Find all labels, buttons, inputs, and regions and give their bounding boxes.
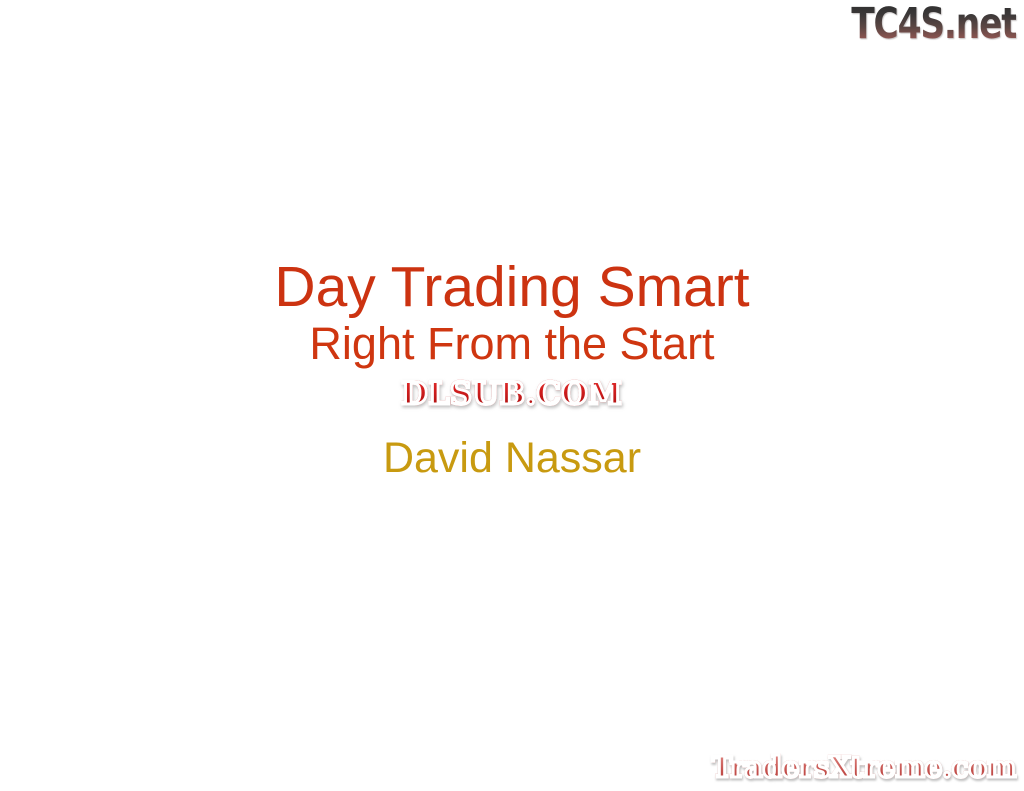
watermark-tradersxtreme: TradersXtreme.com bbox=[712, 751, 1016, 783]
watermark-dlsub-text: DLSUB.COM bbox=[401, 377, 622, 411]
presentation-slide: TC4S.net Day Trading Smart Right From th… bbox=[0, 0, 1024, 791]
slide-author-name: David Nassar bbox=[0, 433, 1024, 483]
watermark-tc4s: TC4S.net bbox=[851, 2, 1016, 46]
slide-title-line-1: Day Trading Smart bbox=[0, 256, 1024, 318]
slide-title-block: Day Trading Smart Right From the Start bbox=[0, 256, 1024, 370]
slide-title-line-2: Right From the Start bbox=[0, 318, 1024, 370]
watermark-dlsub: DLSUB.COM bbox=[0, 377, 1024, 411]
slide-author-block: David Nassar bbox=[0, 433, 1024, 483]
